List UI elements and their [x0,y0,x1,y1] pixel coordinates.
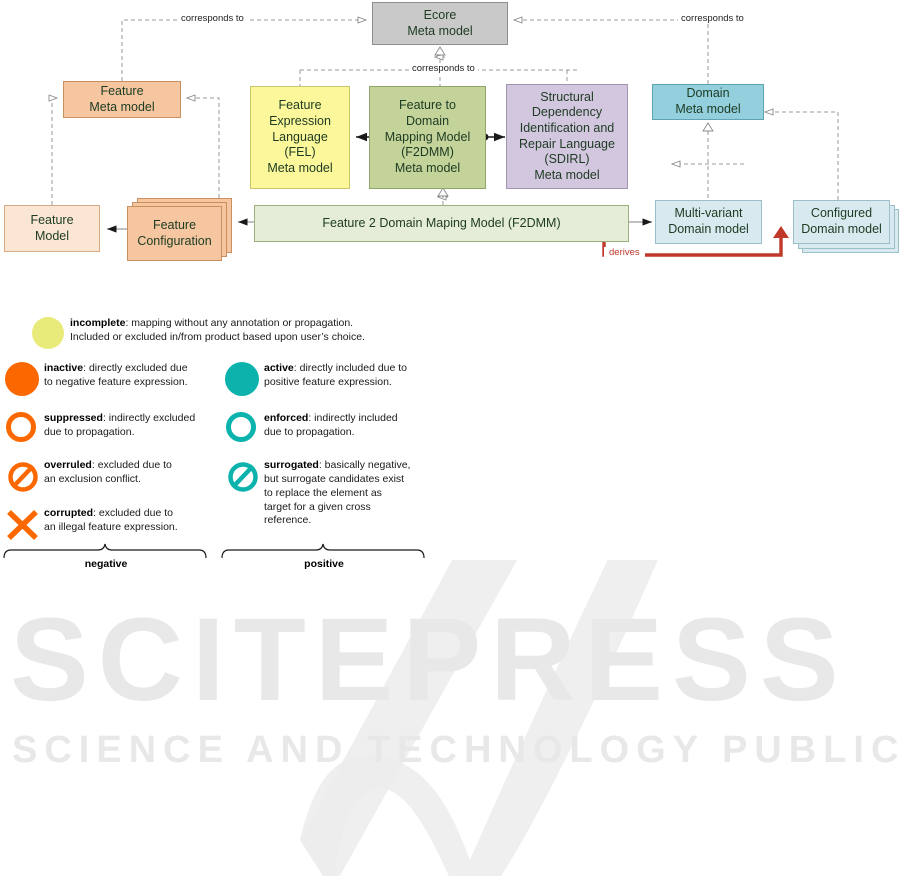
legend-text-enforced: enforced: indirectly included due to pro… [264,410,434,440]
legend-item-overruled: overruled: excluded due to an exclusion … [4,457,214,497]
node-label: Feature 2 Domain Maping Model (F2DMM) [259,216,624,232]
legend-text-incomplete: incomplete: mapping without any annotati… [70,315,425,345]
legend-term: active [264,362,294,374]
node-feature-configuration[interactable]: Feature Configuration [127,206,222,261]
legend-term: surrogated [264,459,319,471]
legend-term: inactive [44,362,83,374]
node-domain-meta-model[interactable]: Domain Meta model [652,84,764,120]
legend-text-inactive: inactive: directly excluded due to negat… [44,360,209,390]
node-configured-domain-model[interactable]: Configured Domain model [793,200,890,244]
legend-item-corrupted: corrupted: excluded due to an illegal fe… [4,505,214,545]
legend-item-suppressed: suppressed: indirectly excluded due to p… [4,410,214,450]
incomplete-icon [30,315,70,355]
node-label: Domain Meta model [657,86,759,117]
node-label: Structural Dependency Identification and… [511,90,623,184]
node-label: Multi-variant Domain model [660,206,757,237]
node-multi-variant-domain-model[interactable]: Multi-variant Domain model [655,200,762,244]
node-f2dmm-meta-model[interactable]: Feature to Domain Mapping Model (F2DMM) … [369,86,486,189]
legend-group-label-negative: negative [4,558,208,570]
node-label: Feature Configuration [132,218,217,249]
suppressed-icon [4,410,44,450]
legend-term: enforced [264,412,308,424]
legend-item-enforced: enforced: indirectly included due to pro… [224,410,434,450]
legend-group-label-positive: positive [222,558,426,570]
legend-text-surrogated: surrogated: basically negative, but surr… [264,457,439,528]
node-feature-model[interactable]: Feature Model [4,205,100,252]
node-ecore-meta-model[interactable]: Ecore Meta model [372,2,508,45]
legend-item-active: active: directly included due to positiv… [224,360,439,400]
legend-term: corrupted [44,507,93,519]
slashed-circle-negative [4,457,42,495]
node-fel-meta-model[interactable]: Feature Expression Language (FEL) Meta m… [250,86,350,189]
slashed-circle-positive [224,457,262,495]
legend-text-suppressed: suppressed: indirectly excluded due to p… [44,410,214,440]
node-feature-meta-model[interactable]: Feature Meta model [63,81,181,118]
legend-text-corrupted: corrupted: excluded due to an illegal fe… [44,505,214,535]
node-label: Feature to Domain Mapping Model (F2DMM) … [374,98,481,176]
node-label: Ecore Meta model [377,8,503,39]
edge-label-derives: derives [604,247,645,258]
legend-term: overruled [44,459,92,471]
active-icon [224,360,264,400]
node-label: Configured Domain model [798,206,885,237]
edge-label-corresponds-right: corresponds to [678,13,747,24]
edge-label-corresponds-middle: corresponds to [409,63,478,74]
cross-icon [4,505,42,543]
node-f2dmm-bar[interactable]: Feature 2 Domain Maping Model (F2DMM) [254,205,629,242]
node-label: Feature Expression Language (FEL) Meta m… [255,98,345,176]
legend-text-active: active: directly included due to positiv… [264,360,439,390]
corrupted-icon [4,505,44,545]
legend-item-incomplete: incomplete: mapping without any annotati… [30,315,430,355]
legend-text-overruled: overruled: excluded due to an exclusion … [44,457,214,487]
edge-label-corresponds-left: corresponds to [178,13,247,24]
inactive-icon [4,360,44,400]
legend: incomplete: mapping without any annotati… [0,300,450,570]
overruled-icon [4,457,44,497]
enforced-icon [224,410,264,450]
legend-term: incomplete [70,317,125,329]
legend-term: suppressed [44,412,103,424]
node-sdirl-meta-model[interactable]: Structural Dependency Identification and… [506,84,628,189]
legend-item-inactive: inactive: directly excluded due to negat… [4,360,214,400]
legend-item-surrogated: surrogated: basically negative, but surr… [224,457,439,528]
node-label: Feature Meta model [68,84,176,115]
node-label: Feature Model [9,213,95,244]
surrogated-icon [224,457,264,497]
